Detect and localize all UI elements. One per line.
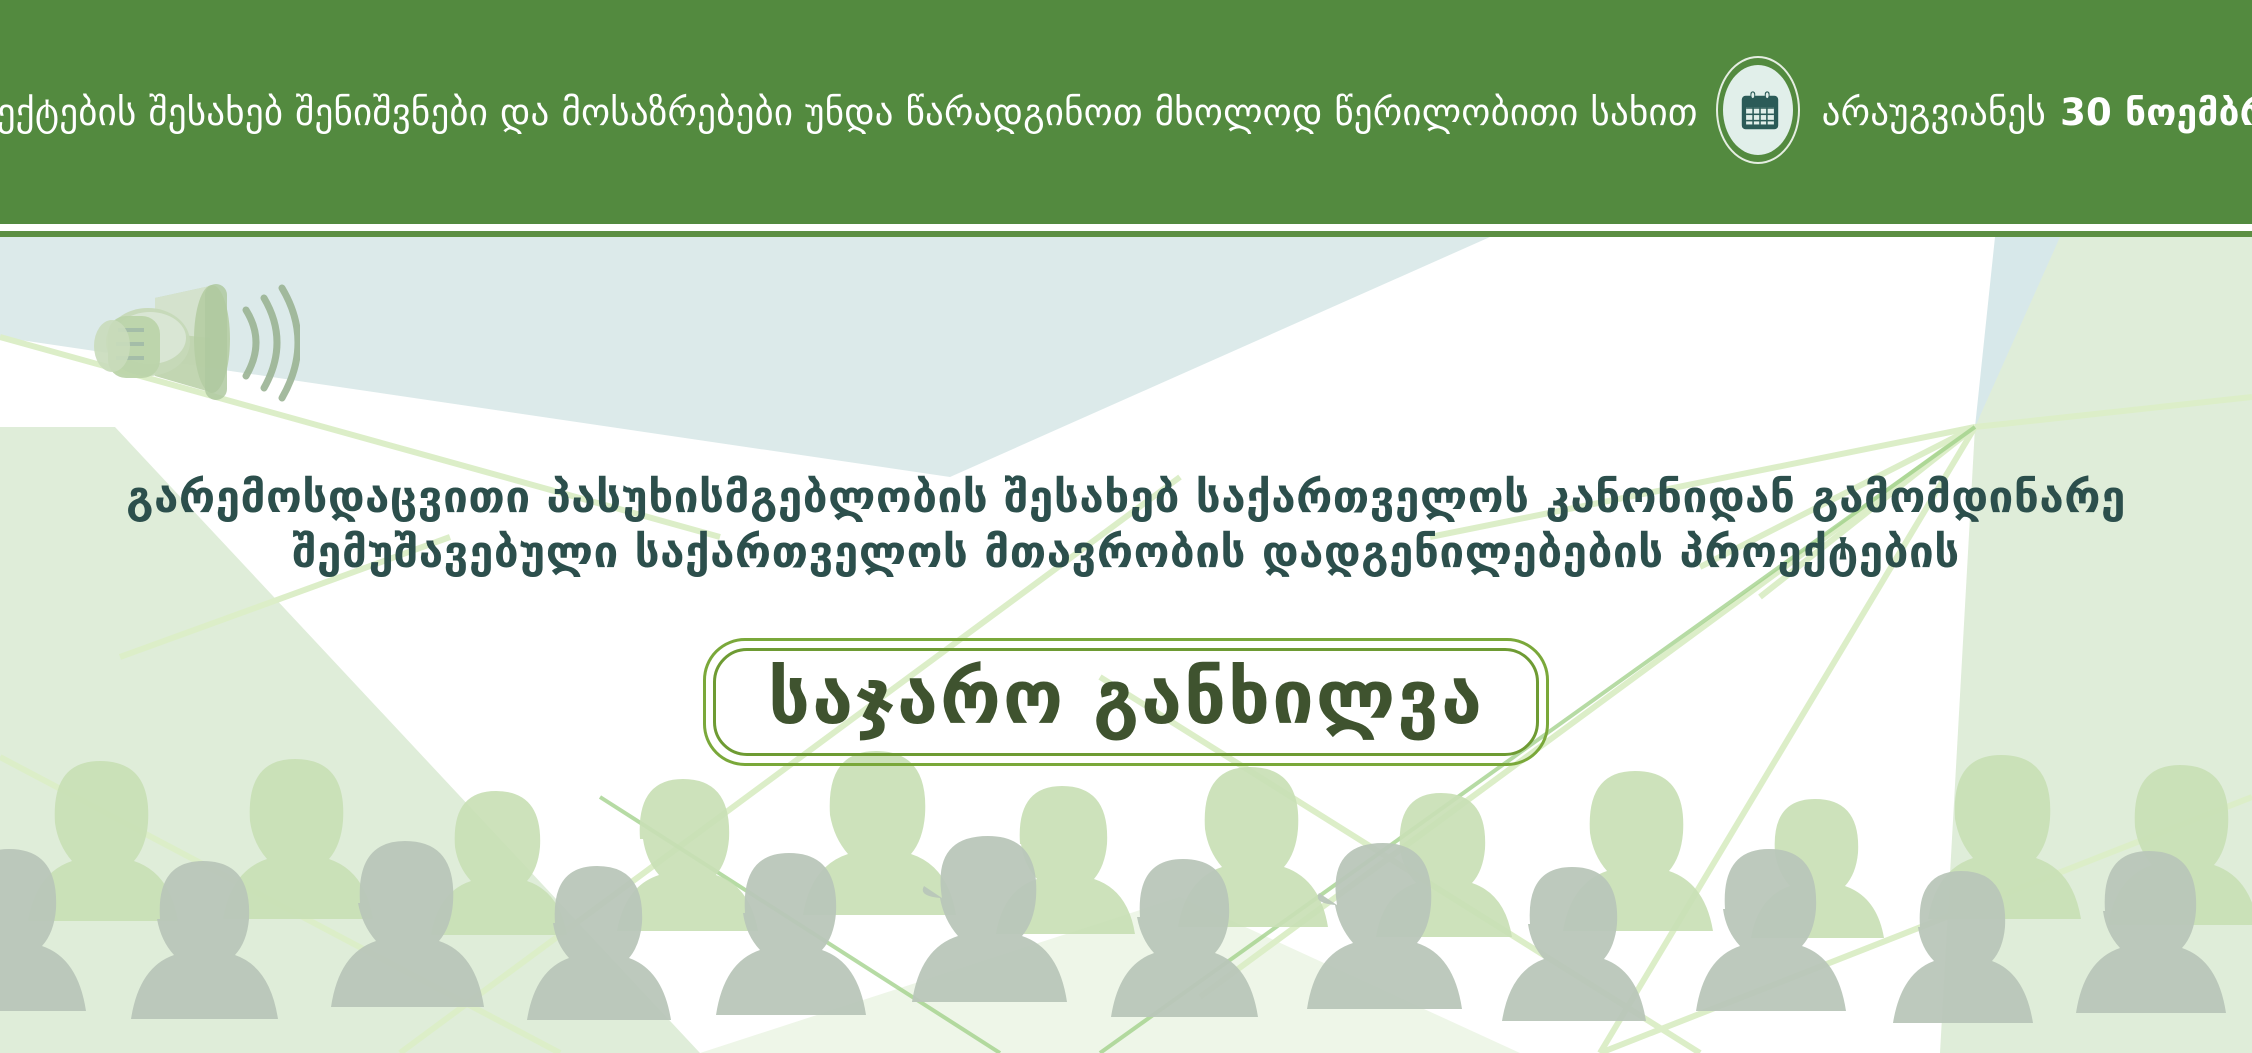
page-title-line-1: გარემოსდაცვითი პასუხისმგებლობის შესახებ … [0, 470, 2252, 525]
highlight-box-outer: საჯარო განხილვა [703, 638, 1549, 766]
calendar-glyph [1737, 89, 1783, 135]
crowd-illustration [0, 733, 2252, 1053]
page-title: გარემოსდაცვითი პასუხისმგებლობის შესახებ … [0, 470, 2252, 580]
highlight-box-wrapper: საჯარო განხილვა [0, 638, 2252, 766]
calendar-icon [1716, 56, 1804, 168]
crowd-silhouettes [0, 733, 2252, 1053]
highlight-box-inner: საჯარო განხილვა [713, 648, 1539, 756]
notice-text: პროექტების შესახებ შენიშვნები და მოსაზრე… [0, 94, 1698, 131]
deadline-date: 30 ნოემბრისა [2060, 94, 2252, 131]
deadline-notice-inner: პროექტების შესახებ შენიშვნები და მოსაზრე… [0, 56, 2252, 168]
megaphone-body [94, 284, 230, 400]
public-consultation-banner: პროექტების შესახებ შენიშვნები და მოსაზრე… [0, 0, 2252, 1053]
deadline-lead-text: არაუგვიანეს [1822, 94, 2046, 131]
megaphone-icon [60, 280, 300, 410]
page-title-line-2: შემუშავებული საქართველოს მთავრობის დადგე… [0, 525, 2252, 580]
megaphone-sound-waves [246, 288, 298, 398]
banner-divider-line [0, 231, 2252, 237]
highlight-text: საჯარო განხილვა [768, 661, 1484, 735]
deadline-notice-bar: პროექტების შესახებ შენიშვნები და მოსაზრე… [0, 0, 2252, 224]
